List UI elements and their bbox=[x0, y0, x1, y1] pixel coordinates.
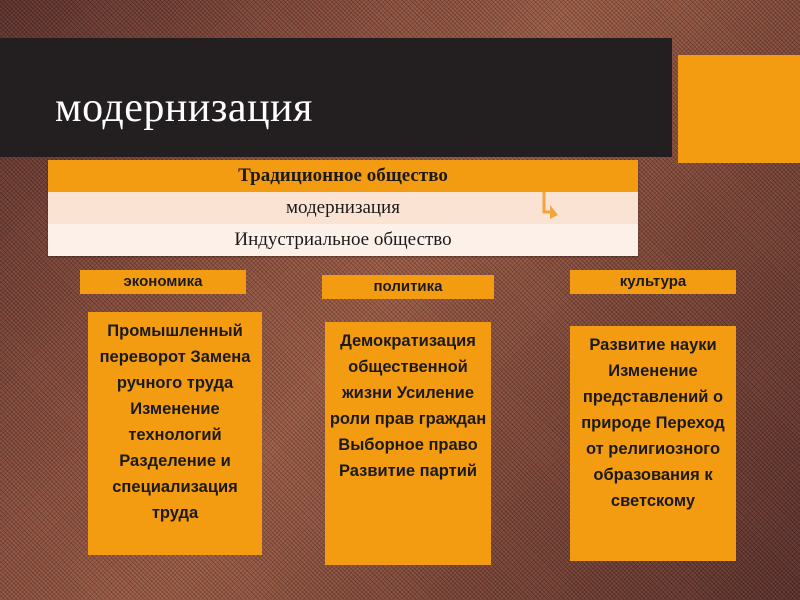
category-body-politics: Демократизация общественной жизни Усилен… bbox=[325, 322, 491, 565]
category-chip-culture: культура bbox=[570, 270, 736, 294]
category-body-culture: Развитие науки Изменение представлений о… bbox=[570, 326, 736, 561]
stack-row: модернизация bbox=[48, 192, 638, 224]
category-chip-politics: политика bbox=[322, 275, 494, 299]
page-title: модернизация bbox=[55, 84, 313, 132]
stack-row: Индустриальное общество bbox=[48, 224, 638, 256]
stack-row: Традиционное общество bbox=[48, 160, 638, 192]
slide: модернизация Традиционное общество модер… bbox=[0, 0, 800, 600]
category-chip-economy: экономика bbox=[80, 270, 246, 294]
accent-square bbox=[678, 55, 800, 163]
category-body-economy: Промышленный переворот Замена ручного тр… bbox=[88, 312, 262, 555]
concept-stack: Традиционное общество модернизация Индус… bbox=[48, 160, 638, 256]
